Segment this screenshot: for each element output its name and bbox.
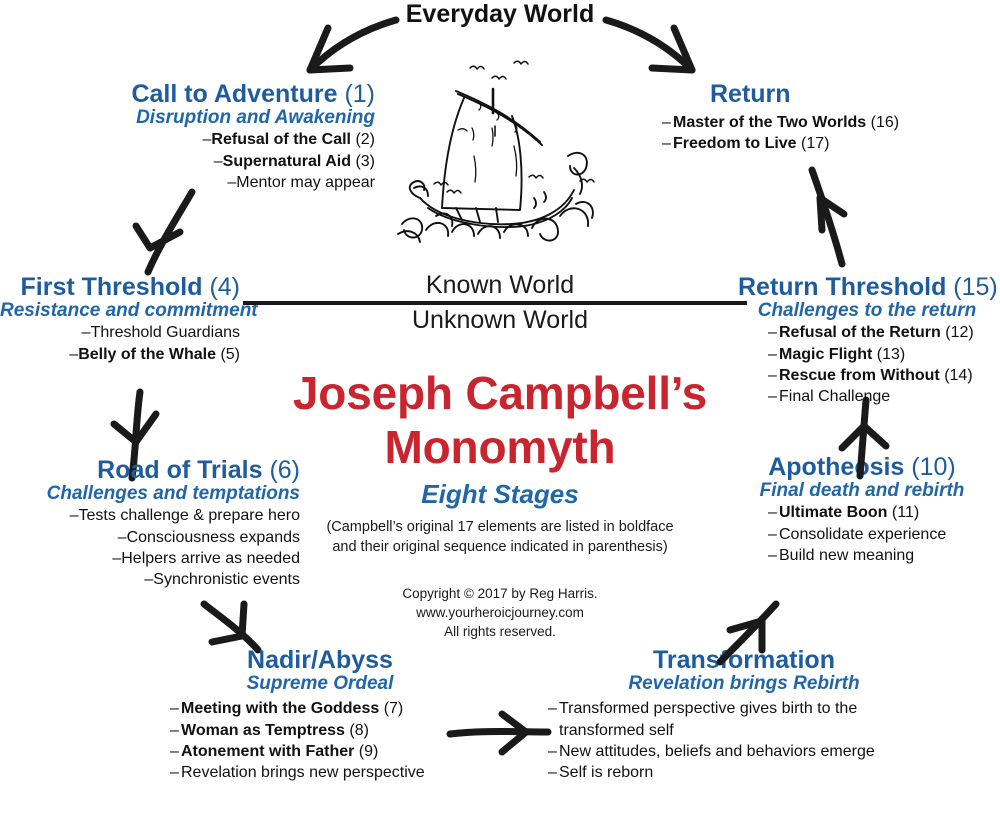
stage-transformation: Transformation Revelation brings Rebirth… [548,648,940,783]
stage-bullets: –Refusal of the Call (2) –Supernatural A… [40,129,375,192]
bullet-item: –Synchronistic events [0,569,300,590]
stage-title: Nadir/Abyss [170,648,470,674]
stage-title: Call to Adventure (1) [40,82,375,108]
stage-call-to-adventure: Call to Adventure (1) Disruption and Awa… [40,82,375,193]
center-subtitle: Eight Stages [300,479,700,510]
arrow-return-threshold-to-return [790,158,870,268]
bullet-item: –Woman as Temptress (8) [170,720,470,741]
stage-subtitle: Disruption and Awakening [40,108,375,128]
bullet-item: –Ultimate Boon (11) [768,502,1000,523]
stage-subtitle: Challenges and temptations [0,484,300,504]
center-note-line2: and their original sequence indicated in… [300,538,700,558]
stage-bullets: –Meeting with the Goddess (7) –Woman as … [170,698,470,782]
stage-return: Return –Master of the Two Worlds (16) –F… [662,82,1000,154]
bullet-item: –New attitudes, beliefs and behaviors em… [548,741,940,762]
bullet-item: –Refusal of the Return (12) [768,322,1000,343]
monomyth-diagram: Everyday World [0,0,1000,826]
copyright-line3: All rights reserved. [330,622,670,641]
stage-bullets: –Master of the Two Worlds (16) –Freedom … [662,112,1000,154]
bullet-item: –Tests challenge & prepare hero [0,505,300,526]
bullet-item: –Belly of the Whale (5) [0,344,240,365]
stage-first-threshold: First Threshold (4) Resistance and commi… [0,275,240,365]
bullet-item: –Transformed perspective gives birth to … [548,698,940,719]
bullet-item: –Self is reborn [548,762,940,783]
stage-subtitle: Final death and rebirth [742,481,982,501]
stage-title: First Threshold (4) [0,275,240,301]
world-divider [243,301,747,305]
bullet-item: –Build new meaning [768,545,1000,566]
bullet-item: –Revelation brings new perspective [170,762,470,783]
arrow-top-right [604,16,714,86]
stage-bullets: –Tests challenge & prepare hero –Conscio… [0,505,300,589]
center-note: (Campbell’s original 17 elements are lis… [300,518,700,557]
bullet-item: –Refusal of the Call (2) [40,129,375,150]
stage-bullets: –Transformed perspective gives birth to … [548,698,940,782]
center-title-line2: Monomyth [280,424,720,471]
center-title-line1: Joseph Campbell’s [280,370,720,417]
stage-return-threshold: Return Threshold (15) Challenges to the … [738,275,1000,407]
bullet-item: –Freedom to Live (17) [662,133,1000,154]
bullet-item: –Magic Flight (13) [768,344,1000,365]
bullet-item: –Meeting with the Goddess (7) [170,698,470,719]
bullet-item: –Consolidate experience [768,524,1000,545]
everyday-world-label: Everyday World [380,0,620,29]
stage-title: Return [710,82,1000,108]
bullet-item: –Final Challenge [768,386,1000,407]
bullet-item: –Threshold Guardians [0,322,240,343]
stage-subtitle: Supreme Ordeal [170,674,470,694]
bullet-item: transformed self [548,720,940,741]
stage-bullets: –Threshold Guardians –Belly of the Whale… [0,322,240,364]
arrow-top-left [288,16,398,86]
stage-subtitle: Revelation brings Rebirth [548,674,940,694]
center-note-line1: (Campbell’s original 17 elements are lis… [300,518,700,538]
copyright-block: Copyright © 2017 by Reg Harris. www.your… [330,584,670,641]
unknown-world-label: Unknown World [360,307,640,333]
stage-title: Return Threshold (15) [738,275,1000,301]
arrow-call-to-first-threshold [124,188,214,278]
arrow-transformation-to-apotheosis [700,596,790,668]
known-world-label: Known World [360,272,640,298]
bullet-item: –Master of the Two Worlds (16) [662,112,1000,133]
sailing-ship-illustration [392,58,610,244]
bullet-item: –Helpers arrive as needed [0,548,300,569]
arrow-nadir-to-transformation [448,708,558,758]
bullet-item: –Supernatural Aid (3) [40,151,375,172]
stage-road-of-trials: Road of Trials (6) Challenges and tempta… [0,458,300,590]
stage-title: Road of Trials (6) [0,458,300,484]
bullet-item: –Consciousness expands [0,527,300,548]
bullet-item: –Rescue from Without (14) [768,365,1000,386]
arrow-apotheosis-to-return-threshold [828,398,898,478]
bullet-item: –Atonement with Father (9) [170,741,470,762]
copyright-line1: Copyright © 2017 by Reg Harris. [330,584,670,603]
stage-subtitle: Challenges to the return [738,301,996,321]
stage-bullets: –Ultimate Boon (11) –Consolidate experie… [768,502,1000,565]
copyright-line2: www.yourheroicjourney.com [330,603,670,622]
stage-subtitle: Resistance and commitment [0,301,240,321]
stage-nadir-abyss: Nadir/Abyss Supreme Ordeal –Meeting with… [170,648,470,783]
stage-bullets: –Refusal of the Return (12) –Magic Fligh… [768,322,1000,406]
